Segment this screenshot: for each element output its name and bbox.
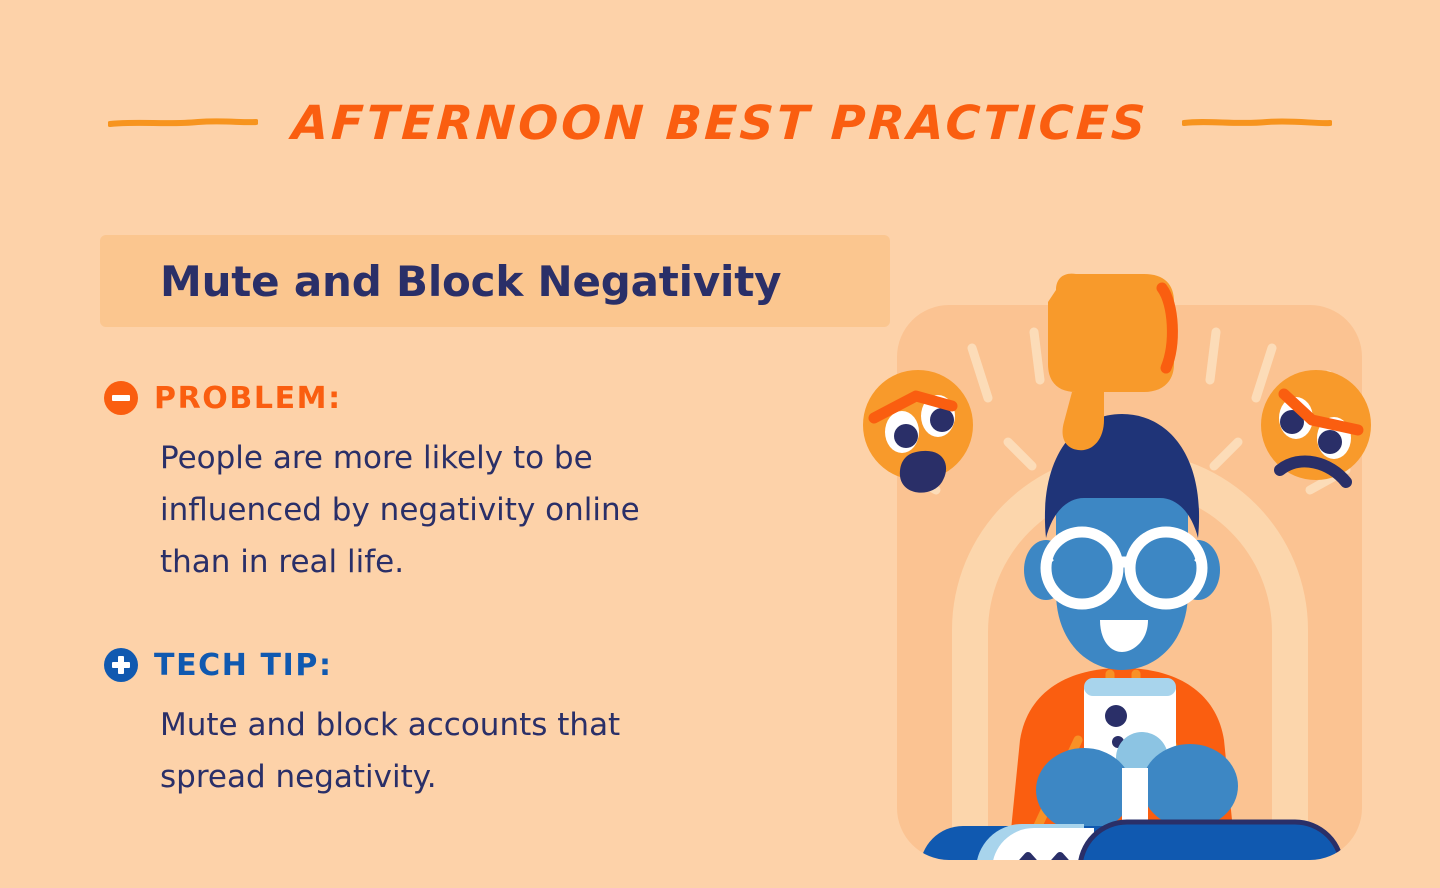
- section-problem-body: People are more likely to be influenced …: [160, 432, 700, 588]
- section-problem-label: PROBLEM:: [154, 381, 342, 416]
- infographic-poster: AFTERNOON BEST PRACTICES Mute and Block …: [0, 0, 1440, 888]
- hand-left: [1036, 748, 1132, 832]
- plus-circle-icon: [104, 648, 138, 682]
- title-band: Mute and Block Negativity: [100, 235, 890, 327]
- page-title: AFTERNOON BEST PRACTICES: [291, 96, 1150, 151]
- smartphone-top-bar: [1084, 678, 1176, 696]
- section-tech-tip-header: TECH TIP:: [104, 645, 804, 685]
- decorative-dash-right-icon: [1182, 117, 1332, 129]
- decorative-dash-left-icon: [108, 117, 258, 129]
- laptop-body: [1080, 822, 1342, 860]
- section-problem: PROBLEM: People are more likely to be in…: [104, 378, 804, 588]
- header: AFTERNOON BEST PRACTICES: [0, 88, 1440, 158]
- laptop: [920, 822, 1342, 860]
- section-tech-tip-label: TECH TIP:: [154, 648, 333, 683]
- section-problem-header: PROBLEM:: [104, 378, 804, 418]
- hand-right: [1142, 744, 1238, 828]
- section-tech-tip-body: Mute and block accounts that spread nega…: [160, 699, 700, 803]
- section-tech-tip: TECH TIP: Mute and block accounts that s…: [104, 645, 804, 803]
- phone-bottom: [1122, 768, 1148, 822]
- illustration-svg: [860, 270, 1400, 860]
- smartphone-dot-large: [1105, 705, 1127, 727]
- minus-circle-icon: [104, 381, 138, 415]
- illustration: [860, 270, 1400, 860]
- title-band-text: Mute and Block Negativity: [160, 257, 781, 306]
